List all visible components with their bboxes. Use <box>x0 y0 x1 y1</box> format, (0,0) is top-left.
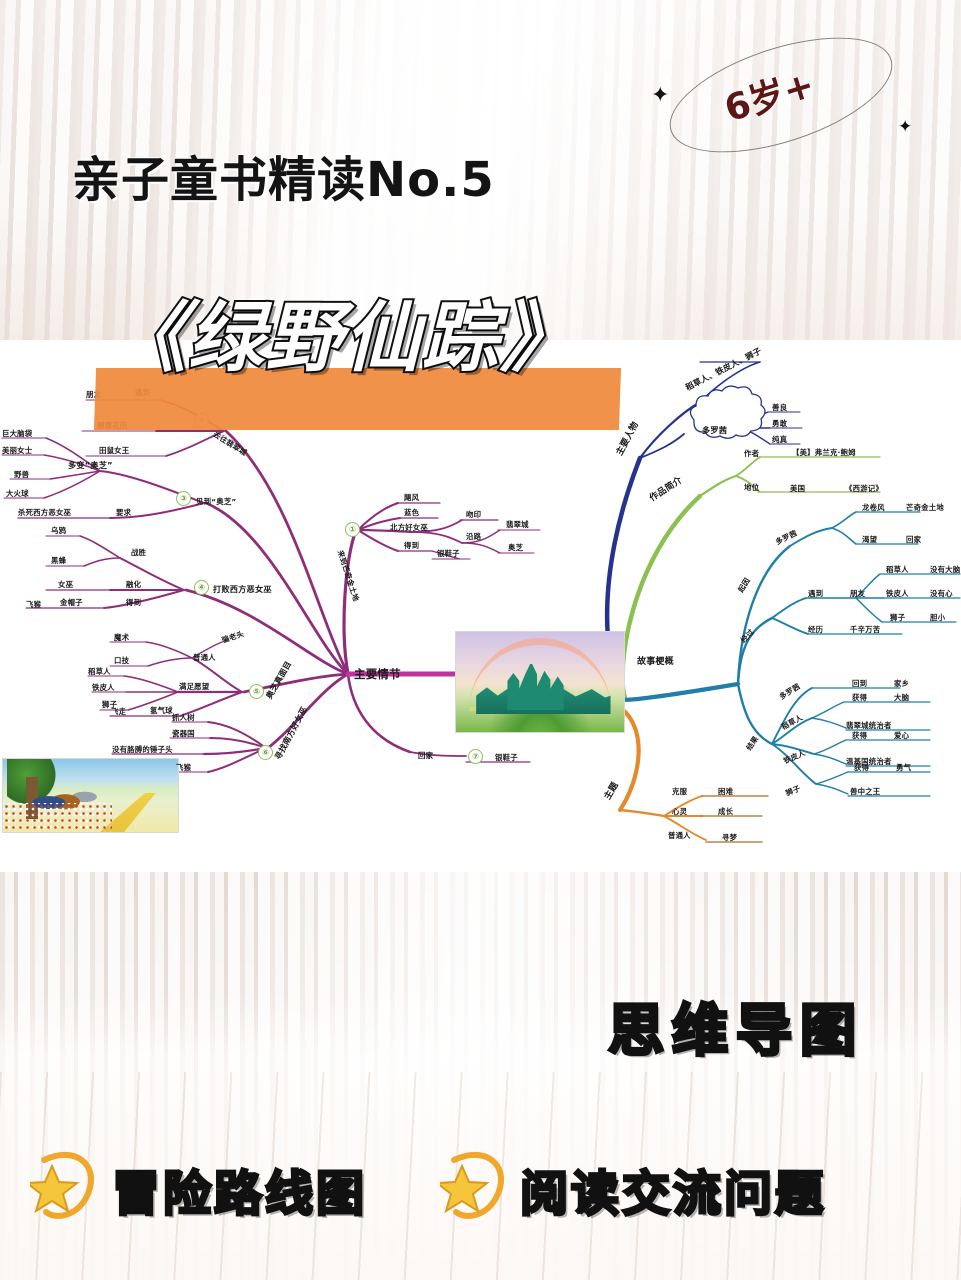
node-label: 氢气球 <box>150 705 173 716</box>
node-label: 美国 <box>790 483 805 494</box>
node-label: 杀死西方恶女巫 <box>18 507 71 518</box>
node-label: 银鞋子 <box>437 548 460 559</box>
node-label: 瓷器国 <box>172 728 195 739</box>
node-label: 要求 <box>116 507 131 518</box>
node-label: 得到 <box>126 597 141 608</box>
node-label: 成长 <box>718 806 733 817</box>
node-label: 飞猴 <box>176 762 191 773</box>
mindmap-subtitle: 思维导图 <box>608 986 864 1067</box>
node-label: 获得 <box>854 762 869 773</box>
node-label: 魔术 <box>114 632 129 643</box>
sparkle-icon: ✦ <box>651 84 669 106</box>
node-label: 野兽 <box>14 469 29 480</box>
node-label: 千辛万苦 <box>850 624 880 635</box>
star-swirl-icon <box>30 1146 102 1224</box>
branch-number-6: ⑥ <box>258 745 273 760</box>
footer-item-adventure-map: 冒险路线图 <box>112 1154 367 1224</box>
branch-number-3: ③ <box>176 491 191 506</box>
node-label: 美丽女士 <box>2 445 32 456</box>
node-label: 稻草人 <box>886 564 909 575</box>
node-label: 芒奇金土地 <box>906 502 944 513</box>
star-swirl-icon <box>440 1146 512 1224</box>
node-label: 经历 <box>808 624 823 635</box>
book-title: 《绿野仙踪》 <box>110 276 578 386</box>
node-label: 没有大脑 <box>930 564 960 575</box>
node-label: 克服 <box>672 786 687 797</box>
node-label: 田鼠女王 <box>99 445 129 456</box>
footer-row: 冒险路线图 阅读交流问题 <box>0 1140 961 1250</box>
node-label: 飓风 <box>404 492 419 503</box>
node-label: 银鞋子 <box>495 752 518 763</box>
node-label: 沿路 <box>466 531 481 542</box>
node-label: 作者 <box>744 448 759 459</box>
node-label: 得到 <box>404 540 419 551</box>
sparkle-icon: ✦ <box>898 118 912 135</box>
node-label: 寻梦 <box>722 832 737 843</box>
branch-number-1: ① <box>345 522 360 537</box>
node-label: 吻印 <box>466 509 481 520</box>
node-label: 抓人树 <box>172 712 195 723</box>
node-label: 纯真 <box>772 434 787 445</box>
node-label: 遇到 <box>808 588 823 599</box>
node-label: 没有胳膊的锤子头 <box>112 744 173 755</box>
node-label: 普通人 <box>668 830 691 841</box>
node-label: 困难 <box>718 786 733 797</box>
node-label: 爱心 <box>894 730 909 741</box>
node-label: 龙卷风 <box>862 502 885 513</box>
branch-number-7: ⑦ <box>468 749 483 764</box>
node-label: 稻草人 <box>88 666 111 677</box>
node-label: 兽中之王 <box>850 786 880 797</box>
node-label: 勇敢 <box>772 418 787 429</box>
node-label: 没有心 <box>930 588 953 599</box>
node-label: 金帽子 <box>60 597 83 608</box>
node-label: 融化 <box>126 579 141 590</box>
node-label: 《西游记》 <box>845 483 883 494</box>
node-label: 胆小 <box>930 612 945 623</box>
node-label: 善良 <box>772 402 787 413</box>
node-label: 北方好女巫 <box>390 522 428 533</box>
node-label: 地位 <box>744 482 759 493</box>
branch-number-4: ④ <box>194 580 209 595</box>
node-label-hero: 多罗茜 <box>702 424 727 436</box>
node-label: 奥芝 <box>508 542 523 553</box>
node-label: 铁皮人 <box>92 682 115 693</box>
age-badge: 6岁+ ✦ ✦ <box>645 40 915 150</box>
node-label: 飞走 <box>111 706 126 717</box>
branch-number-5: ⑤ <box>249 684 264 699</box>
node-label: 翡翠城 <box>506 519 529 530</box>
node-label: 巨大脑袋 <box>2 428 32 439</box>
node-label: 渴望 <box>862 534 877 545</box>
branch-label-synopsis: 故事梗概 <box>637 654 674 667</box>
node-label: 勇气 <box>896 762 911 773</box>
node-label: 女巫 <box>58 579 73 590</box>
node-label: 狮子 <box>890 612 905 623</box>
footer-item-discussion-questions: 阅读交流问题 <box>520 1154 826 1224</box>
node-label: 获得 <box>852 730 867 741</box>
node-label: 多变“奥芝” <box>68 459 113 471</box>
node-label: 铁皮人 <box>886 588 909 599</box>
mindmap-root-label: 主要情节 <box>354 666 401 682</box>
node-label: 【美】弗兰克·鲍姆 <box>792 447 856 458</box>
node-label: 黑蜂 <box>51 555 66 566</box>
node-label: 大脑 <box>894 692 909 703</box>
node-label: 获得 <box>852 692 867 703</box>
node-label: 朋友 <box>850 588 865 599</box>
node-label: 回到 <box>852 678 867 689</box>
branch-label-3: 见到“奥芝” <box>196 496 236 507</box>
node-label: 口技 <box>114 655 129 666</box>
node-label: 满足愿望 <box>179 681 209 692</box>
node-label: 家乡 <box>894 678 909 689</box>
node-label: 大火球 <box>6 488 29 499</box>
branch-label-4: 打败西方恶女巫 <box>213 583 272 595</box>
node-label: 战胜 <box>131 547 146 558</box>
node-label: 飞猴 <box>26 599 41 610</box>
node-label: 回家 <box>906 534 921 545</box>
node-label: 乌鸦 <box>51 525 66 536</box>
characters-meadow-image <box>2 758 179 833</box>
node-label: 蓝色 <box>404 507 419 518</box>
emerald-city-image <box>455 631 625 733</box>
node-label: 普通人 <box>193 652 216 663</box>
node-label: 心灵 <box>672 806 687 817</box>
page-title: 亲子童书精读No.5 <box>72 140 495 210</box>
branch-label-7: 回家 <box>418 750 433 761</box>
